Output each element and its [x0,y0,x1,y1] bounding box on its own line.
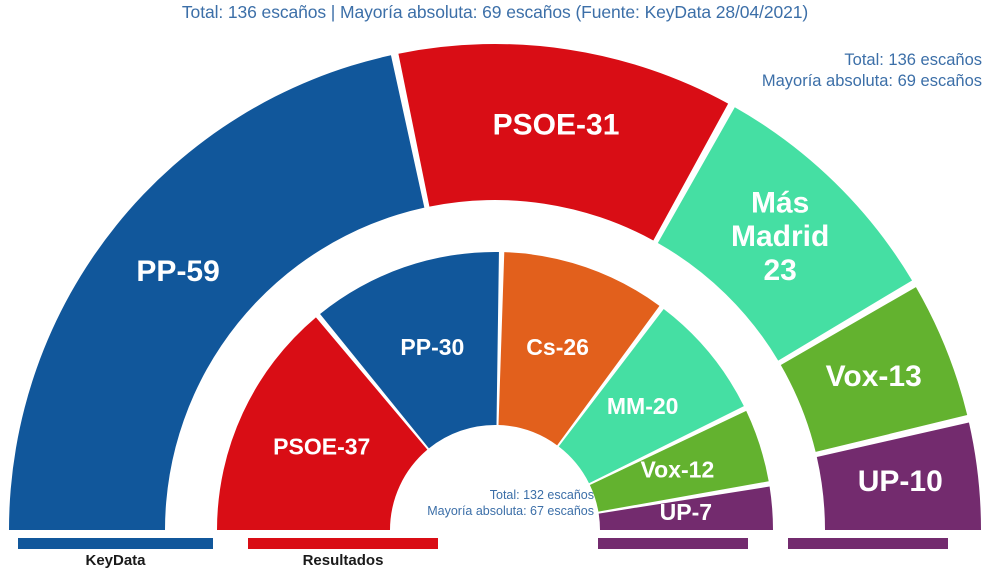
label-inner-cs: Cs-26 [526,334,589,360]
legend-label-resultados: Resultados [303,552,384,569]
label-inner-vox: Vox-12 [641,457,715,483]
inner-ring-annotation: Total: 132 escaños Mayoría absoluta: 67 … [418,487,594,519]
label-inner-up: UP-7 [660,499,712,525]
label-outer-up: UP-10 [858,465,943,498]
inner-majority-label: Mayoría absoluta: 67 escaños [418,503,594,519]
label-outer-vox: Vox-13 [826,360,922,393]
inner-total-label: Total: 132 escaños [418,487,594,503]
hemicycle-diagram: PP-59PSOE-31MásMadrid23Vox-13UP-10 PSOE-… [0,0,990,557]
label-inner-pp: PP-30 [400,334,464,360]
label-inner-más-madrid: MM-20 [607,393,679,419]
hemicycle-chart-page: Total: 136 escaños | Mayoría absoluta: 6… [0,0,990,557]
label-outer-psoe: PSOE-31 [493,109,620,142]
legend-swatch-item-2 [598,538,748,549]
legend-swatch-keydata [18,538,213,549]
label-inner-psoe: PSOE-37 [273,433,370,459]
label-outer-pp: PP-59 [136,255,219,288]
legend-label-keydata: KeyData [85,552,145,569]
legend-swatch-resultados [248,538,438,549]
legend-swatch-item-3 [788,538,948,549]
